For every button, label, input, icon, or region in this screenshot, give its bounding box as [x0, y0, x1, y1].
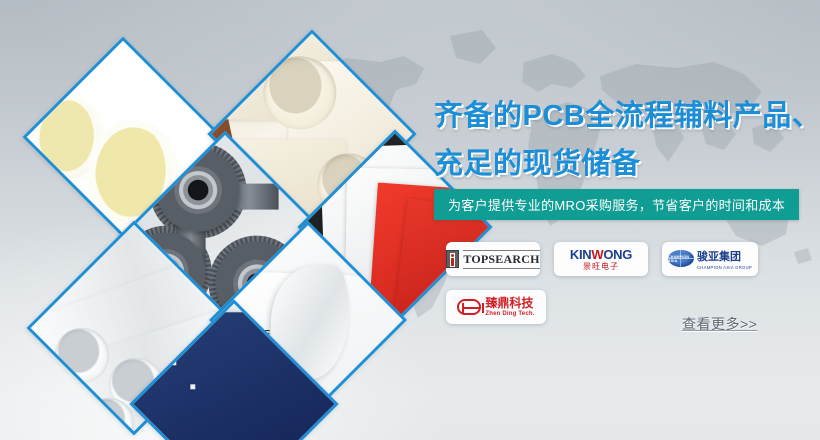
- partner-logo-zhen-ding[interactable]: 臻鼎科技 Zhen Ding Tech.: [446, 290, 546, 324]
- headline-line-1: 齐备的PCB全流程辅料产品、: [434, 92, 820, 134]
- kinwong-text-part2: W: [591, 247, 603, 262]
- topsearch-i-mark-icon: [446, 250, 459, 268]
- partner-logo-topsearch[interactable]: TOPSEARCH: [446, 242, 540, 276]
- subtitle-bar: 为客户提供专业的MRO采购服务，节省客户的时间和成本: [434, 189, 799, 220]
- champion-asia-chinese-name: 骏亚集团: [697, 251, 741, 263]
- product-collage: JIE: [0, 0, 440, 440]
- partner-logo-kinwong[interactable]: KINWONG 景旺电子: [554, 242, 648, 276]
- champion-asia-globe-icon: CHAMPION ASIA: [668, 250, 694, 267]
- promo-banner: JIE 齐备的PCB全流程辅料产品、 充足的现货储备 为客户提供专业的MRO采购…: [0, 0, 820, 440]
- champion-asia-globe-text: CHAMPION ASIA: [668, 255, 694, 263]
- zhen-ding-chinese-name: 臻鼎科技: [485, 297, 534, 309]
- headline-line-2: 充足的现货储备: [434, 140, 641, 182]
- kinwong-text-part3: ONG: [603, 247, 632, 262]
- partner-logo-champion-asia[interactable]: CHAMPION ASIA 骏亚集团 CHAMPION ASIA GROUP: [662, 242, 758, 276]
- view-more-label: 查看更多>>: [682, 316, 757, 332]
- view-more-link[interactable]: 查看更多>>: [682, 314, 757, 334]
- zhen-ding-emblem-icon: [457, 299, 481, 315]
- kinwong-text-part1: KIN: [570, 247, 592, 262]
- kinwong-chinese-name: 景旺电子: [570, 263, 632, 271]
- banner-text-block: 齐备的PCB全流程辅料产品、 充足的现货储备 为客户提供专业的MRO采购服务，节…: [424, 0, 820, 440]
- champion-asia-english-name: CHAMPION ASIA GROUP: [697, 266, 752, 270]
- subtitle-text: 为客户提供专业的MRO采购服务，节省客户的时间和成本: [448, 195, 785, 214]
- kinwong-wordmark: KINWONG: [570, 248, 632, 261]
- zhen-ding-english-name: Zhen Ding Tech.: [485, 311, 534, 317]
- topsearch-wordmark: TOPSEARCH: [463, 250, 539, 269]
